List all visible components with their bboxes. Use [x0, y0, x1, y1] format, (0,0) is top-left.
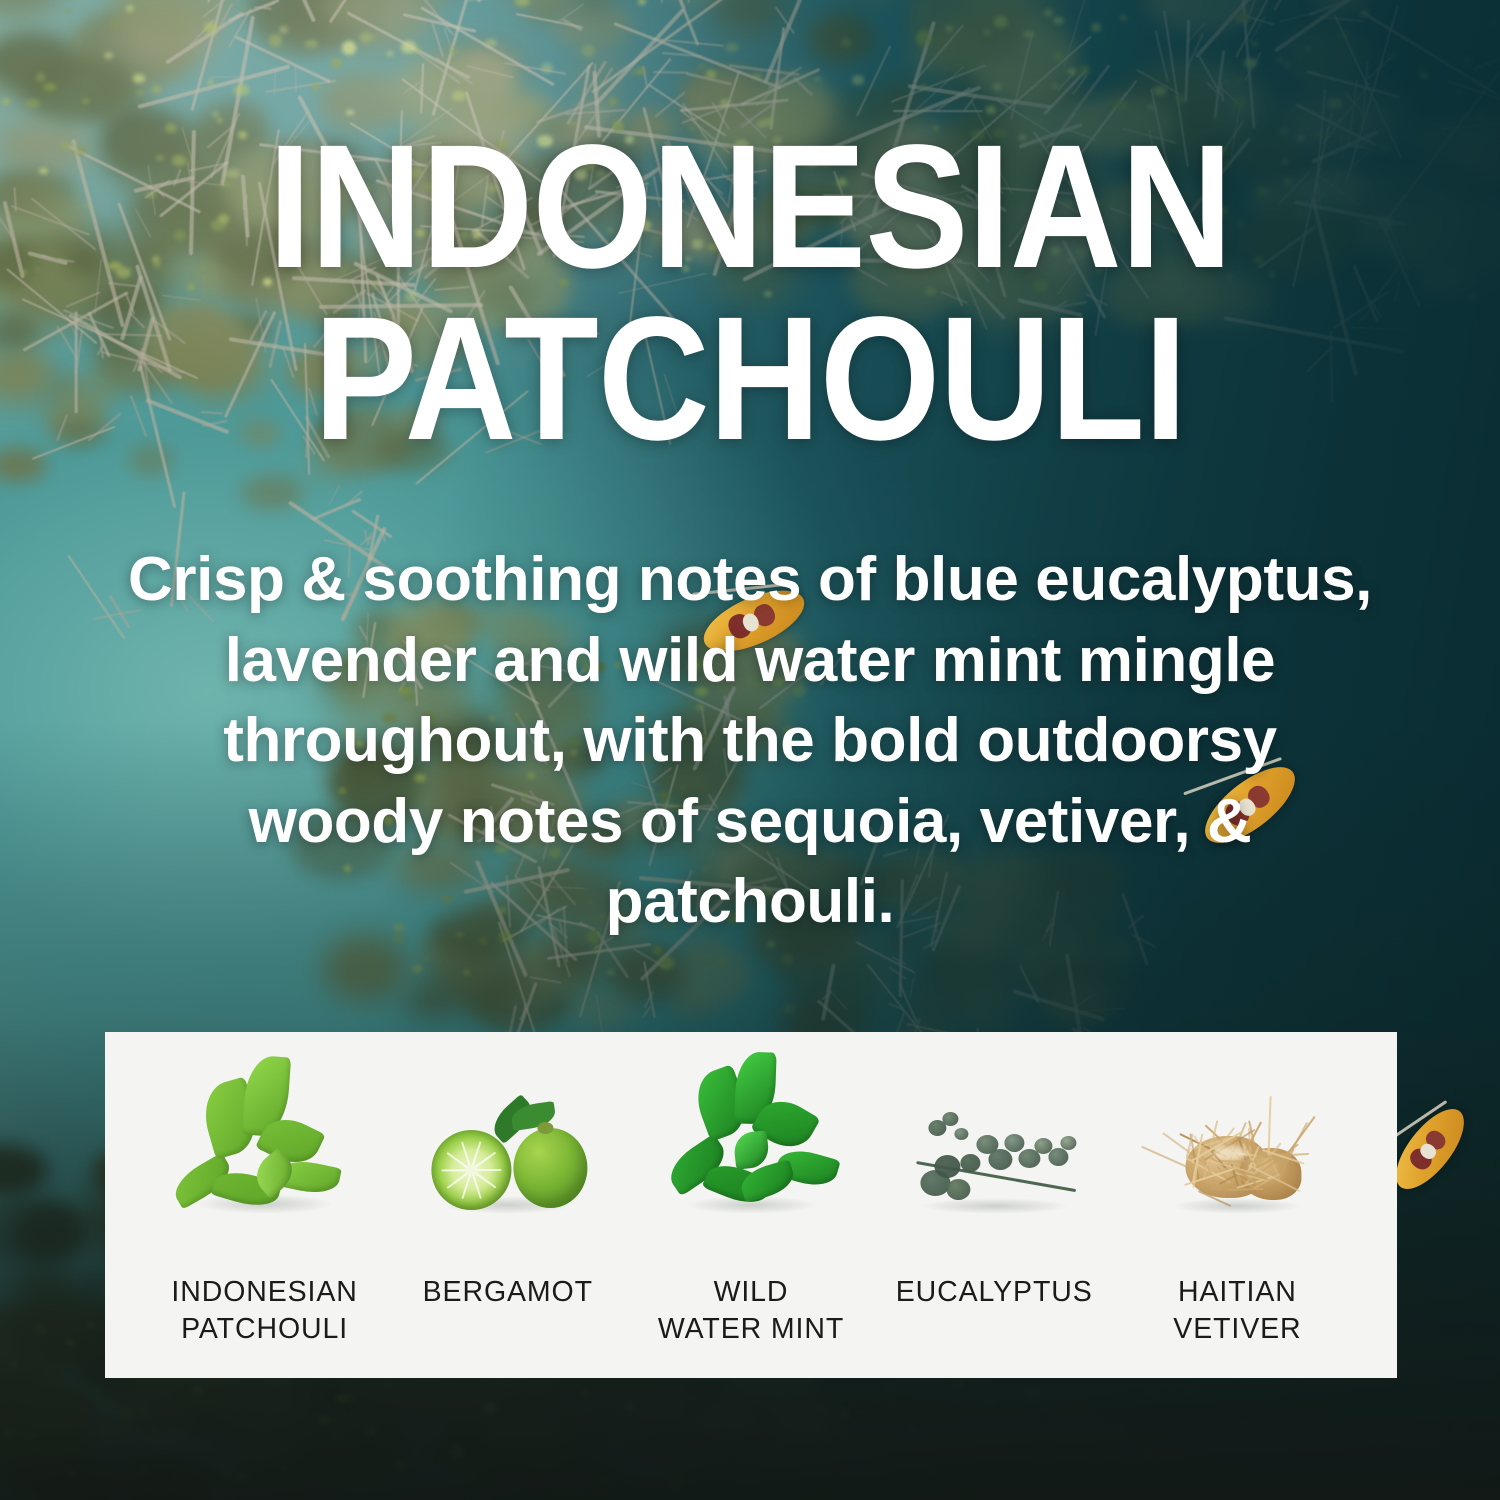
ingredient-eucalyptus: EUCALYPTUS [873, 1084, 1116, 1311]
ingredient-haitian-vetiver: HAITIAN VETIVER [1116, 1084, 1359, 1348]
ingredient-panel: INDONESIAN PATCHOULI BERGAMOT WILD WATER… [105, 1032, 1397, 1378]
page-title: INDONESIAN PATCHOULI [90, 122, 1410, 465]
ingredient-indonesian-patchouli: INDONESIAN PATCHOULI [143, 1084, 386, 1348]
title-line-1: INDONESIAN [268, 109, 1232, 305]
ingredient-bergamot: BERGAMOT [386, 1084, 629, 1311]
ingredient-label: BERGAMOT [423, 1274, 593, 1311]
patchouli-leaves-icon [143, 1084, 386, 1212]
ingredient-label: INDONESIAN PATCHOULI [171, 1274, 357, 1348]
product-scent-card: INDONESIAN PATCHOULI Crisp & soothing no… [0, 0, 1500, 1500]
title-line-2: PATCHOULI [90, 294, 1410, 466]
ingredient-wild-water-mint: WILD WATER MINT [629, 1084, 872, 1348]
ingredient-label: EUCALYPTUS [896, 1274, 1093, 1311]
vetiver-roots-icon [1116, 1084, 1359, 1212]
ingredient-label: HAITIAN VETIVER [1173, 1274, 1301, 1348]
bergamot-fruit-icon [386, 1084, 629, 1212]
ingredient-label: WILD WATER MINT [658, 1274, 844, 1348]
eucalyptus-branch-icon [873, 1084, 1116, 1212]
scent-description: Crisp & soothing notes of blue eucalyptu… [118, 540, 1382, 943]
mint-sprig-icon [629, 1084, 872, 1212]
